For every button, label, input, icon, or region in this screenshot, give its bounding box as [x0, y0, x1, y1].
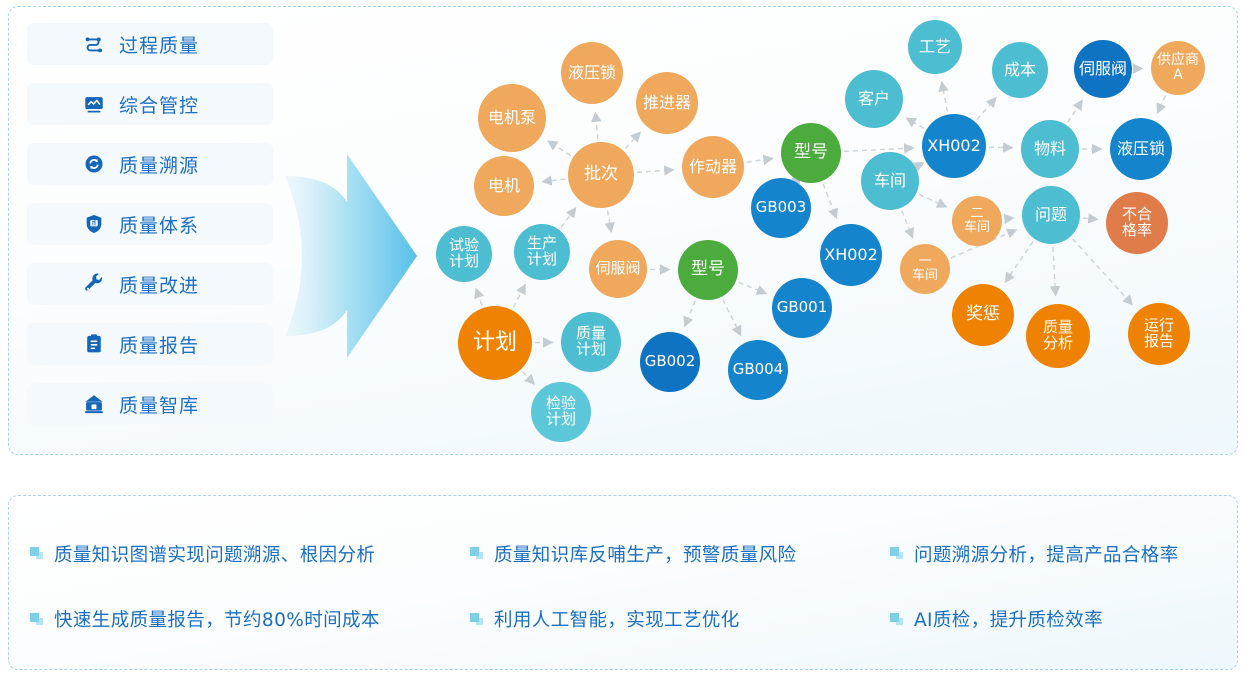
highlight-item: 快速生成质量报告，节约80%时间成本 — [30, 587, 470, 653]
bullet-square-icon — [30, 547, 43, 560]
graph-edge — [747, 159, 773, 163]
graph-edge — [1005, 241, 1033, 281]
graph-node[interactable]: 运行 报告 — [1128, 303, 1190, 365]
graph-node[interactable]: 推进器 — [636, 72, 698, 134]
graph-node[interactable]: 物料 — [1021, 120, 1079, 178]
graph-node[interactable]: GB004 — [728, 340, 788, 400]
highlight-text: 质量知识库反哺生产，预警质量风险 — [494, 541, 796, 567]
highlight-text: 快速生成质量报告，节约80%时间成本 — [54, 606, 380, 632]
bullet-square-icon — [890, 613, 903, 626]
graph-edge — [607, 210, 611, 231]
graph-node[interactable]: 车间 — [861, 152, 919, 210]
graph-node[interactable]: 供应商 A — [1151, 41, 1205, 95]
graph-node[interactable]: 问题 — [1022, 186, 1080, 244]
graph-edge — [1083, 218, 1097, 219]
knowledge-graph: 试验 计划生产 计划计划质量 计划检验 计划电机泵电机批次液压锁推进器作动器伺服… — [0, 0, 1230, 449]
graph-edge — [739, 282, 766, 293]
graph-edge — [919, 194, 946, 206]
highlight-text: AI质检，提升质检效率 — [914, 606, 1103, 632]
graph-node[interactable]: 生产 计划 — [514, 224, 570, 280]
graph-node[interactable]: 液压锁 — [1110, 118, 1172, 180]
graph-edge — [625, 132, 640, 148]
graph-node[interactable]: 伺服阀 — [1074, 40, 1132, 98]
graph-edge — [823, 184, 836, 218]
graph-node[interactable]: 伺服阀 — [589, 240, 647, 298]
graph-edge — [685, 301, 696, 326]
graph-edge — [989, 147, 1012, 148]
graph-node[interactable]: 一 车间 — [900, 244, 950, 294]
graph-node[interactable]: 客户 — [845, 70, 903, 128]
graph-node[interactable]: 成本 — [992, 42, 1048, 98]
bullet-square-icon — [890, 547, 903, 560]
graph-edge — [942, 82, 948, 111]
graph-node[interactable]: XH002 — [820, 224, 882, 286]
graph-node[interactable]: 计划 — [458, 306, 532, 380]
graph-edge — [543, 179, 565, 182]
highlight-text: 利用人工智能，实现工艺优化 — [494, 606, 740, 632]
graph-node[interactable]: 质量 分析 — [1026, 304, 1090, 368]
highlights-list: 质量知识图谱实现问题溯源、根因分析质量知识库反哺生产，预警质量风险问题溯源分析，… — [8, 495, 1238, 670]
highlight-text: 质量知识图谱实现问题溯源、根因分析 — [54, 541, 375, 567]
graph-node[interactable]: 不合 格率 — [1106, 192, 1168, 254]
graph-edge — [561, 208, 576, 227]
graph-node[interactable]: 作动器 — [682, 136, 744, 198]
graph-edge — [1053, 247, 1056, 295]
graph-node[interactable]: 质量 计划 — [561, 312, 621, 372]
graph-node[interactable]: XH002 — [922, 114, 986, 178]
graph-edge — [977, 98, 996, 120]
highlight-item: 问题溯源分析，提高产品合格率 — [890, 521, 1246, 587]
highlight-item: 质量知识库反哺生产，预警质量风险 — [470, 521, 890, 587]
graph-edge — [523, 372, 534, 384]
graph-node[interactable]: 电机泵 — [478, 84, 546, 152]
graph-node[interactable]: GB002 — [640, 332, 700, 392]
graph-edge — [476, 289, 482, 305]
graph-edge — [637, 170, 673, 173]
graph-node[interactable]: 工艺 — [908, 20, 962, 74]
graph-node[interactable]: 型号 — [781, 123, 841, 183]
graph-edge — [907, 118, 924, 128]
graph-edge — [844, 148, 913, 151]
graph-node[interactable]: 奖惩 — [952, 284, 1014, 346]
graph-node[interactable]: 电机 — [474, 156, 534, 216]
graph-edge — [723, 300, 741, 336]
graph-node[interactable]: 检验 计划 — [531, 382, 591, 442]
graph-edge — [548, 141, 570, 155]
graph-edge — [1005, 218, 1013, 219]
graph-node[interactable]: GB003 — [751, 178, 811, 238]
graph-edge — [596, 113, 598, 139]
graph-node[interactable]: 二 车间 — [952, 196, 1002, 246]
graph-node[interactable]: 液压锁 — [561, 42, 623, 104]
bullet-square-icon — [30, 613, 43, 626]
graph-edge — [1068, 101, 1082, 123]
highlight-item: 利用人工智能，实现工艺优化 — [470, 587, 890, 653]
bullet-square-icon — [470, 613, 483, 626]
highlight-item: AI质检，提升质检效率 — [890, 587, 1246, 653]
graph-node[interactable]: 批次 — [568, 142, 634, 208]
graph-node[interactable]: 试验 计划 — [436, 226, 492, 282]
graph-edge — [1158, 95, 1166, 112]
graph-node[interactable]: GB001 — [772, 278, 832, 338]
highlight-item: 质量知识图谱实现问题溯源、根因分析 — [30, 521, 470, 587]
graph-edge — [902, 211, 913, 238]
graph-node[interactable]: 型号 — [678, 240, 738, 300]
bullet-square-icon — [470, 547, 483, 560]
highlight-text: 问题溯源分析，提高产品合格率 — [914, 541, 1179, 567]
graph-edge — [513, 285, 525, 308]
